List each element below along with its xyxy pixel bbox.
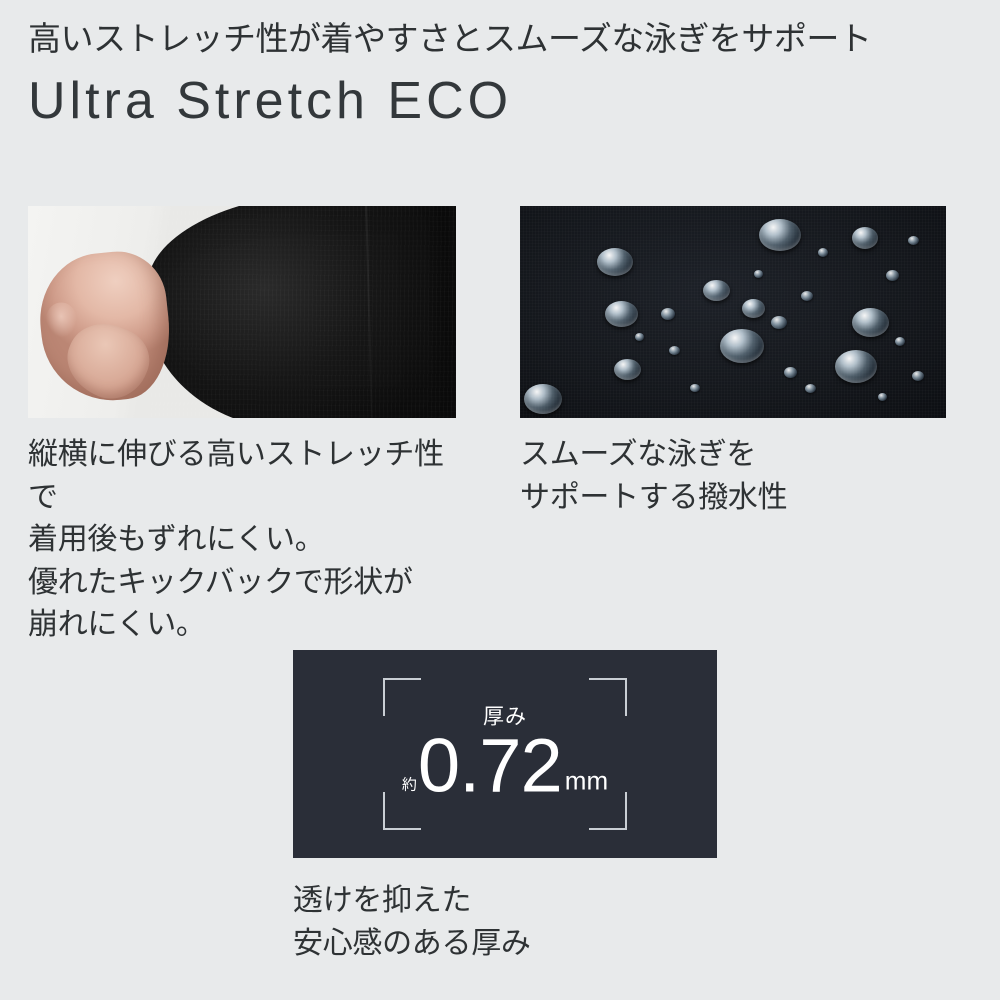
thickness-value-row: 約 0.72 mm — [293, 732, 717, 802]
water-droplet — [524, 384, 562, 414]
tagline: 高いストレッチ性が着やすさとスムーズな泳ぎをサポート — [28, 18, 978, 59]
water-droplet — [895, 337, 905, 346]
water-droplet — [759, 219, 801, 251]
thickness-panel: 厚み 約 0.72 mm — [293, 650, 717, 858]
thickness-block: 厚み 約 0.72 mm 透けを抑えた 安心感のある厚み — [293, 650, 717, 965]
water-droplet — [720, 329, 764, 363]
water-droplet — [597, 248, 633, 276]
water-droplet — [818, 248, 828, 257]
water-droplet — [742, 299, 765, 318]
fabric-edge-shadow — [425, 206, 456, 418]
water-droplet — [801, 291, 813, 301]
fabric-shape — [145, 206, 456, 418]
water-droplet — [835, 350, 877, 383]
water-droplet — [878, 393, 887, 401]
feature-stretch: 縦横に伸びる高いストレッチ性で 着用後もずれにくい。 優れたキックバックで形状が… — [28, 206, 456, 647]
water-droplet — [771, 316, 787, 329]
feature-row: 縦横に伸びる高いストレッチ性で 着用後もずれにくい。 優れたキックバックで形状が… — [0, 206, 1000, 626]
water-droplet — [908, 236, 919, 245]
knuckle-highlight — [44, 300, 78, 339]
water-droplet — [754, 270, 763, 278]
water-droplets-photo — [520, 206, 946, 418]
water-droplet — [669, 346, 680, 355]
feature-water-repellent: スムーズな泳ぎを サポートする撥水性 — [520, 206, 946, 519]
water-droplet — [605, 301, 638, 327]
water-droplet — [614, 359, 641, 380]
water-droplet — [805, 384, 816, 393]
feature-caption-water-repellent: スムーズな泳ぎを サポートする撥水性 — [520, 434, 946, 519]
thickness-value: 0.72 — [418, 732, 562, 802]
water-droplet — [661, 308, 675, 320]
fabric-seam — [365, 206, 373, 418]
thickness-caption: 透けを抑えた 安心感のある厚み — [293, 880, 717, 965]
header: 高いストレッチ性が着やすさとスムーズな泳ぎをサポート Ultra Stretch… — [28, 18, 978, 130]
approx-prefix: 約 — [402, 777, 417, 801]
water-droplet — [635, 333, 644, 341]
water-droplet — [852, 308, 889, 337]
water-droplet — [886, 270, 899, 281]
feature-caption-stretch: 縦横に伸びる高いストレッチ性で 着用後もずれにくい。 優れたキックバックで形状が… — [28, 434, 456, 647]
water-droplet — [690, 384, 700, 392]
water-droplet — [784, 367, 797, 378]
water-droplet — [852, 227, 878, 249]
water-droplet — [703, 280, 730, 301]
stretch-fabric-photo — [28, 206, 456, 418]
thickness-unit: mm — [565, 767, 608, 801]
infographic-page: 高いストレッチ性が着やすさとスムーズな泳ぎをサポート Ultra Stretch… — [0, 0, 1000, 1000]
thickness-readout: 厚み 約 0.72 mm — [293, 707, 717, 802]
water-droplet — [912, 371, 924, 381]
page-title: Ultra Stretch ECO — [28, 73, 978, 130]
